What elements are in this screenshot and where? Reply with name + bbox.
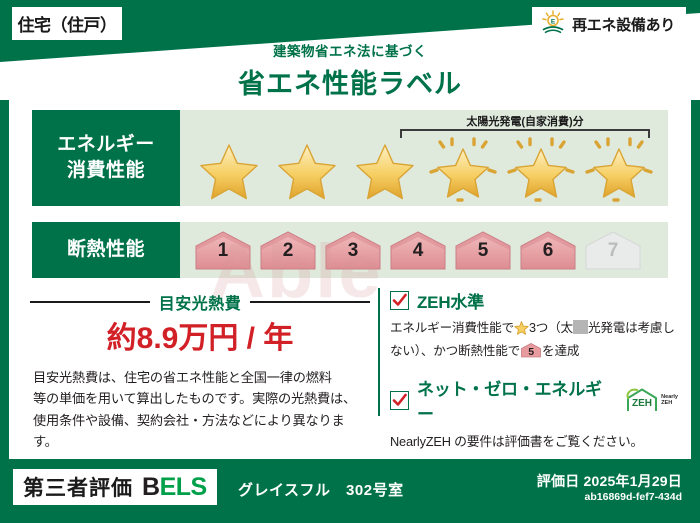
zeh-desc-b: 3つ（太 xyxy=(529,321,573,335)
evaluation-id: ab16869d-fef7-434d xyxy=(585,491,682,503)
redacted-text xyxy=(573,320,588,334)
cost-desc-line2: 等の単価を用いて算出したものです。実際の光熱費は、 xyxy=(33,388,369,409)
energy-star xyxy=(272,136,342,202)
energy-label-line2: 消費性能 xyxy=(67,158,145,184)
insulation-grade-badge: 3 xyxy=(322,228,384,272)
insulation-grade-badge: 5 xyxy=(452,228,514,272)
insulation-grade-value: 7 xyxy=(582,240,644,262)
netzero-row: ネット・ゼロ・エネルギー ZEH Nearly ZEH xyxy=(390,375,678,425)
energy-performance-label: 住宅（住戸） E 再エネ設備あり 建築物省エネ法に基づく 省エネ性能ラベル xyxy=(0,0,700,523)
bels-plate: 第三者評価 BELS xyxy=(13,469,217,505)
title-subtitle: 建築物省エネ法に基づく xyxy=(0,40,700,60)
title-block: 建築物省エネ法に基づく 省エネ性能ラベル xyxy=(0,40,700,101)
category-badge: 住宅（住戸） xyxy=(12,7,122,40)
netzero-description: NearlyZEH の要件は評価書をご覧ください。 xyxy=(390,431,678,450)
insulation-grade-badge: 2 xyxy=(257,228,319,272)
inline-grade-badge: 5 xyxy=(520,342,542,358)
insulation-grade-value: 2 xyxy=(257,240,319,262)
insulation-label-text: 断熱性能 xyxy=(67,237,145,263)
footer-bar: 第三者評価 BELS グレイスフル 302号室 評価日 2025年1月29日 a… xyxy=(0,459,700,523)
zeh-house-logo-icon: ZEH Nearly ZEH xyxy=(625,387,678,413)
category-badge-label: 住宅（住戸） xyxy=(18,11,117,36)
cost-rule-right xyxy=(250,301,370,303)
cost-heading: 目安光熱費 xyxy=(30,290,370,314)
svg-text:ZEH: ZEH xyxy=(632,398,652,409)
building-name: グレイスフル 302号室 xyxy=(238,479,404,500)
inline-star-icon xyxy=(514,321,529,341)
cost-heading-text: 目安光熱費 xyxy=(159,290,242,314)
third-party-label: 第三者評価 xyxy=(23,472,133,502)
energy-star-solar xyxy=(584,136,654,202)
zeh-logo-sub2: ZEH xyxy=(661,400,678,406)
energy-star-list xyxy=(180,136,668,202)
title-main: 省エネ性能ラベル xyxy=(0,62,700,101)
insulation-label: 断熱性能 xyxy=(32,222,180,278)
zeh-standard-row: ZEH水準 xyxy=(390,288,678,313)
insulation-grade-list: 1 2 3 4 xyxy=(180,222,668,278)
insulation-grade-badge-inactive: 7 xyxy=(582,228,644,272)
cost-desc-line1: 目安光熱費は、住宅の省エネ性能と全国一律の燃料 xyxy=(33,367,369,388)
cost-value: 約8.9万円 / 年 xyxy=(30,313,370,357)
insulation-grade-value: 5 xyxy=(452,240,514,262)
cost-rule-left xyxy=(30,301,150,303)
cost-description: 目安光熱費は、住宅の省エネ性能と全国一律の燃料 等の単価を用いて算出したものです… xyxy=(33,367,369,453)
zeh-desc-c: 光発電 xyxy=(588,321,625,335)
zeh-standard-description: エネルギー消費性能で3つ（太光発電は考慮しない）、かつ断熱性能で5を達成 xyxy=(390,318,678,361)
insulation-row: 断熱性能 1 2 xyxy=(32,222,668,278)
insulation-grade-value: 6 xyxy=(517,240,579,262)
zeh-panel: ZEH水準 エネルギー消費性能で3つ（太光発電は考慮しない）、かつ断熱性能で5を… xyxy=(390,288,678,450)
energy-star-solar xyxy=(506,136,576,202)
bels-logo: BELS xyxy=(142,473,207,502)
bels-logo-b: B xyxy=(142,473,160,501)
insulation-grade-badge: 1 xyxy=(192,228,254,272)
energy-star xyxy=(194,136,264,202)
energy-star-solar xyxy=(428,136,498,202)
energy-consumption-label: エネルギー 消費性能 xyxy=(32,110,180,206)
insulation-grade-value: 1 xyxy=(192,240,254,262)
energy-consumption-row: エネルギー 消費性能 太陽光発電(自家消費)分 xyxy=(32,110,668,206)
insulation-grade-value: 3 xyxy=(322,240,384,262)
insulation-grade-badge: 4 xyxy=(387,228,449,272)
vertical-divider xyxy=(378,288,380,416)
solar-sun-icon: E xyxy=(540,10,566,39)
checkbox-checked-icon xyxy=(390,291,409,310)
zeh-desc-a: エネルギー消費性能で xyxy=(390,321,514,335)
checkbox-checked-icon xyxy=(390,391,409,410)
solar-generation-note: 太陽光発電(自家消費)分 xyxy=(400,113,650,129)
insulation-grade-badge: 6 xyxy=(517,228,579,272)
cost-desc-line3: 使用条件や設備、契約会社・方法などにより異なります。 xyxy=(33,410,369,453)
evaluation-date: 評価日 2025年1月29日 xyxy=(537,471,682,491)
energy-stars-area: 太陽光発電(自家消費)分 xyxy=(180,110,668,206)
inline-grade-value: 5 xyxy=(520,344,542,361)
netzero-title: ネット・ゼロ・エネルギー xyxy=(417,375,615,425)
energy-star xyxy=(350,136,420,202)
energy-label-line1: エネルギー xyxy=(57,132,155,158)
svg-text:E: E xyxy=(551,18,556,25)
zeh-desc-e: を達成 xyxy=(542,344,579,358)
renewable-badge-label: 再エネ設備あり xyxy=(572,14,675,35)
insulation-grade-value: 4 xyxy=(387,240,449,262)
renewable-equipment-badge: E 再エネ設備あり xyxy=(532,7,686,42)
bels-logo-els: ELS xyxy=(160,473,207,501)
zeh-standard-title: ZEH水準 xyxy=(417,288,484,313)
